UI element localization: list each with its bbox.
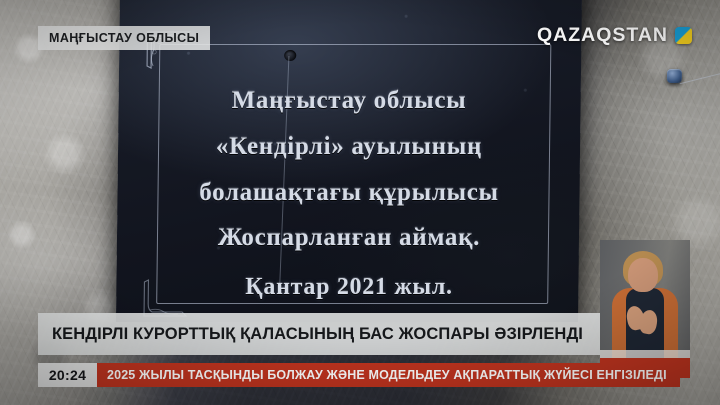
qazaqstan-logo-mark-icon — [675, 27, 692, 44]
channel-logo: QAZAQSTAN — [537, 24, 692, 47]
broadcast-screen: Маңғыстау облысы «Кендірлі» ауылының бол… — [0, 0, 720, 405]
plaque-line-5: Қантар 2021 жыл. — [118, 275, 580, 299]
channel-logo-text: QAZAQSTAN — [537, 24, 668, 47]
interpreter-desk-strip — [600, 350, 690, 358]
plaque-bolt-hole — [284, 50, 296, 61]
location-tag: МАҢҒЫСТАУ ОБЛЫСЫ — [38, 26, 210, 50]
headline-banner: КЕНДІРЛІ КУРОРТТЫҚ ҚАЛАСЫНЫҢ БАС ЖОСПАРЫ… — [38, 313, 600, 355]
sign-language-interpreter-panel — [600, 240, 690, 378]
clock-time: 20:24 — [49, 367, 86, 383]
ticker-text: 2025 ЖЫЛЫ ТАСҚЫНДЫ БОЛЖАУ ЖӘНЕ МОДЕЛЬДЕУ… — [107, 368, 667, 382]
location-tag-label: МАҢҒЫСТАУ ОБЛЫСЫ — [49, 31, 199, 45]
clock-box: 20:24 — [38, 363, 97, 387]
interpreter-face — [630, 259, 656, 279]
ticker-strip: 2025 ЖЫЛЫ ТАСҚЫНДЫ БОЛЖАУ ЖӘНЕ МОДЕЛЬДЕУ… — [97, 363, 680, 387]
plaque-line-4: Жоспарланған аймақ. — [118, 225, 580, 250]
plaque-line-2: «Кендірлі» ауылының — [118, 134, 580, 159]
news-ticker: 20:24 2025 ЖЫЛЫ ТАСҚЫНДЫ БОЛЖАУ ЖӘНЕ МОД… — [38, 363, 680, 387]
plaque-line-3: болашақтағы құрылысы — [118, 180, 580, 205]
plaque-line-1: Маңғыстау облысы — [118, 88, 580, 113]
plaque-engraved-frame — [156, 44, 551, 304]
headline-text: КЕНДІРЛІ КУРОРТТЫҚ ҚАЛАСЫНЫҢ БАС ЖОСПАРЫ… — [52, 325, 583, 344]
plaque-bolt — [667, 69, 682, 83]
